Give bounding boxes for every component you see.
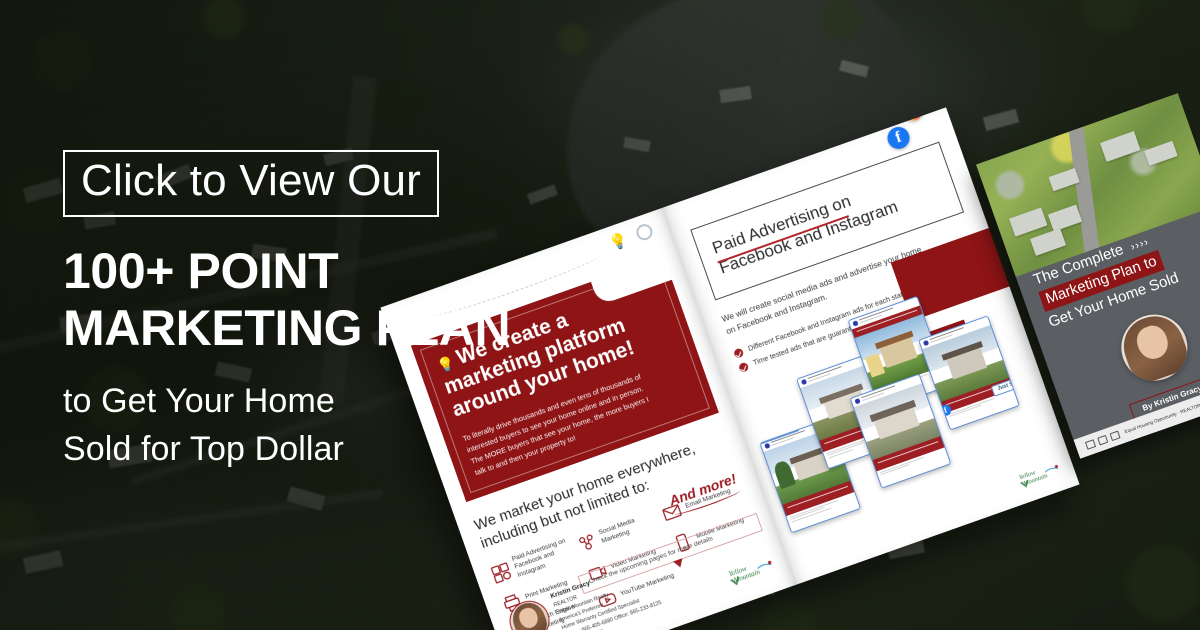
lightbulb-icon: 💡 — [607, 230, 631, 253]
mls-icon — [1109, 431, 1120, 442]
social-media-icon — [575, 531, 599, 555]
arrows-icon: ›››› — [1129, 236, 1151, 254]
cta-label: Click to View Our — [81, 158, 421, 205]
profile-dot — [923, 340, 929, 346]
realtor-icon — [1097, 435, 1108, 446]
profile-dot — [764, 443, 770, 449]
profile-dot — [801, 379, 807, 385]
gear-icon — [634, 222, 654, 242]
promo-banner: Click to View Our 100+ POINT MARKETING P… — [0, 0, 1200, 630]
facebook-instagram-ads-icon — [489, 561, 513, 585]
profile-dot — [854, 398, 860, 404]
profile-dot — [852, 321, 858, 327]
facebook-icon: f — [884, 124, 912, 152]
equal-housing-icon — [1085, 439, 1096, 450]
click-to-view-button[interactable]: Click to View Our — [63, 150, 439, 217]
check-circle-icon — [733, 347, 744, 358]
cover-agent-avatar — [1112, 305, 1196, 389]
headline-block: Click to View Our 100+ POINT MARKETING P… — [63, 150, 583, 471]
title-line-1: 100+ POINT — [63, 243, 583, 300]
subtitle-line-1: to Get Your Home — [63, 379, 583, 423]
title-line-2: MARKETING PLAN — [63, 300, 583, 357]
subtitle-line-2: Sold for Top Dollar — [63, 427, 583, 471]
idea-icons: 💡 — [607, 221, 655, 253]
